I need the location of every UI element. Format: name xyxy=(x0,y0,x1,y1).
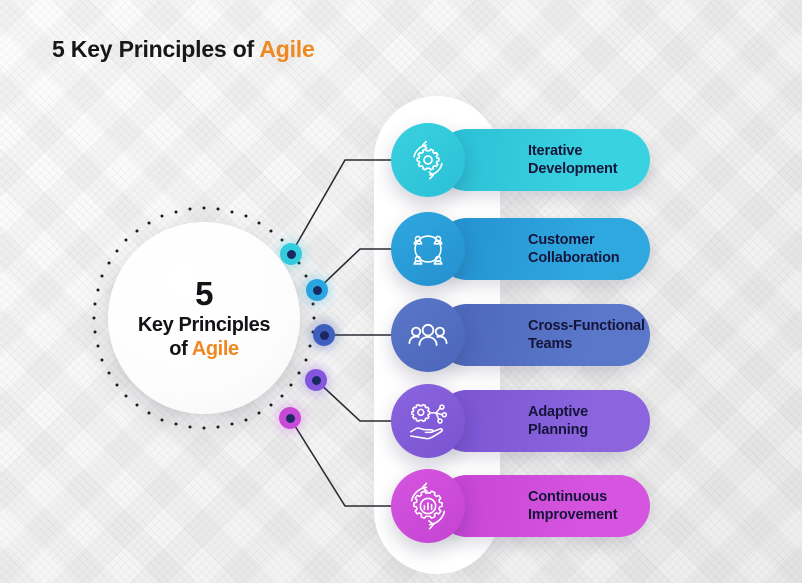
principle-label-5: Continuous Improvement xyxy=(528,488,617,525)
principle-pill-2[interactable]: Customer Collaboration xyxy=(436,218,650,280)
page-title-prefix: 5 Key Principles of xyxy=(52,36,259,62)
ring-dot xyxy=(313,317,316,320)
ring-dot xyxy=(96,345,99,348)
ring-dot xyxy=(93,317,96,320)
ring-dot xyxy=(245,215,248,218)
hub-line-2-prefix: of xyxy=(169,338,192,360)
principle-label-4: Adaptive Planning xyxy=(528,403,650,440)
hand-gear-network-icon-circle-4[interactable] xyxy=(391,384,465,458)
hub-line-2-accent: Agile xyxy=(192,338,239,360)
ring-dot xyxy=(312,302,315,305)
principle-label-1: Iterative Development xyxy=(528,142,617,179)
principle-pill-4[interactable]: Adaptive Planning xyxy=(436,390,650,452)
ring-dot xyxy=(174,423,177,426)
ring-dot xyxy=(217,426,220,429)
gear-cycle-icon xyxy=(405,137,451,183)
ring-dot xyxy=(93,302,96,305)
infographic-canvas: 5 Key Principles of Agile Iterative Deve… xyxy=(0,0,802,583)
principle-label-2: Customer Collaboration xyxy=(528,231,620,268)
ring-dot xyxy=(304,274,307,277)
ring-dot xyxy=(245,418,248,421)
hub-text: 5 Key Principles of Agile xyxy=(108,222,300,414)
page-title-accent: Agile xyxy=(259,36,314,62)
ring-dot xyxy=(217,207,220,210)
hub-line-2: of Agile xyxy=(169,338,238,361)
ring-dot xyxy=(231,210,234,213)
principle-label-3: Cross-Functional Teams xyxy=(528,317,645,354)
hub-node-3[interactable] xyxy=(313,324,335,346)
hand-gear-network-icon xyxy=(405,398,451,444)
gear-cycle-icon-circle-1[interactable] xyxy=(391,123,465,197)
ring-dot xyxy=(93,331,96,334)
team-group-icon-circle-3[interactable] xyxy=(391,298,465,372)
gear-chart-icon xyxy=(404,482,452,530)
principle-pill-1[interactable]: Iterative Development xyxy=(436,129,650,191)
ring-dot xyxy=(160,215,163,218)
principle-pill-3[interactable]: Cross-Functional Teams xyxy=(436,304,650,366)
hub-circle: 5 Key Principles of Agile xyxy=(108,222,300,414)
ring-dot xyxy=(304,359,307,362)
ring-dot xyxy=(188,207,191,210)
ring-dot xyxy=(96,288,99,291)
page-title: 5 Key Principles of Agile xyxy=(52,36,315,63)
hub-line-1: Key Principles xyxy=(138,314,270,337)
hub-number: 5 xyxy=(195,275,213,313)
ring-dot xyxy=(160,418,163,421)
ring-dot xyxy=(231,423,234,426)
hub-node-2[interactable] xyxy=(306,279,328,301)
ring-dot xyxy=(203,427,206,430)
ring-dot xyxy=(174,210,177,213)
people-circle-icon-circle-2[interactable] xyxy=(391,212,465,286)
ring-dot xyxy=(309,345,312,348)
ring-dot xyxy=(188,426,191,429)
principle-pill-5[interactable]: Continuous Improvement xyxy=(436,475,650,537)
hub-node-4[interactable] xyxy=(305,369,327,391)
team-group-icon xyxy=(405,312,451,358)
gear-chart-icon-circle-5[interactable] xyxy=(391,469,465,543)
ring-dot xyxy=(203,207,206,210)
ring-dot xyxy=(101,359,104,362)
people-circle-icon xyxy=(405,226,451,272)
ring-dot xyxy=(101,274,104,277)
